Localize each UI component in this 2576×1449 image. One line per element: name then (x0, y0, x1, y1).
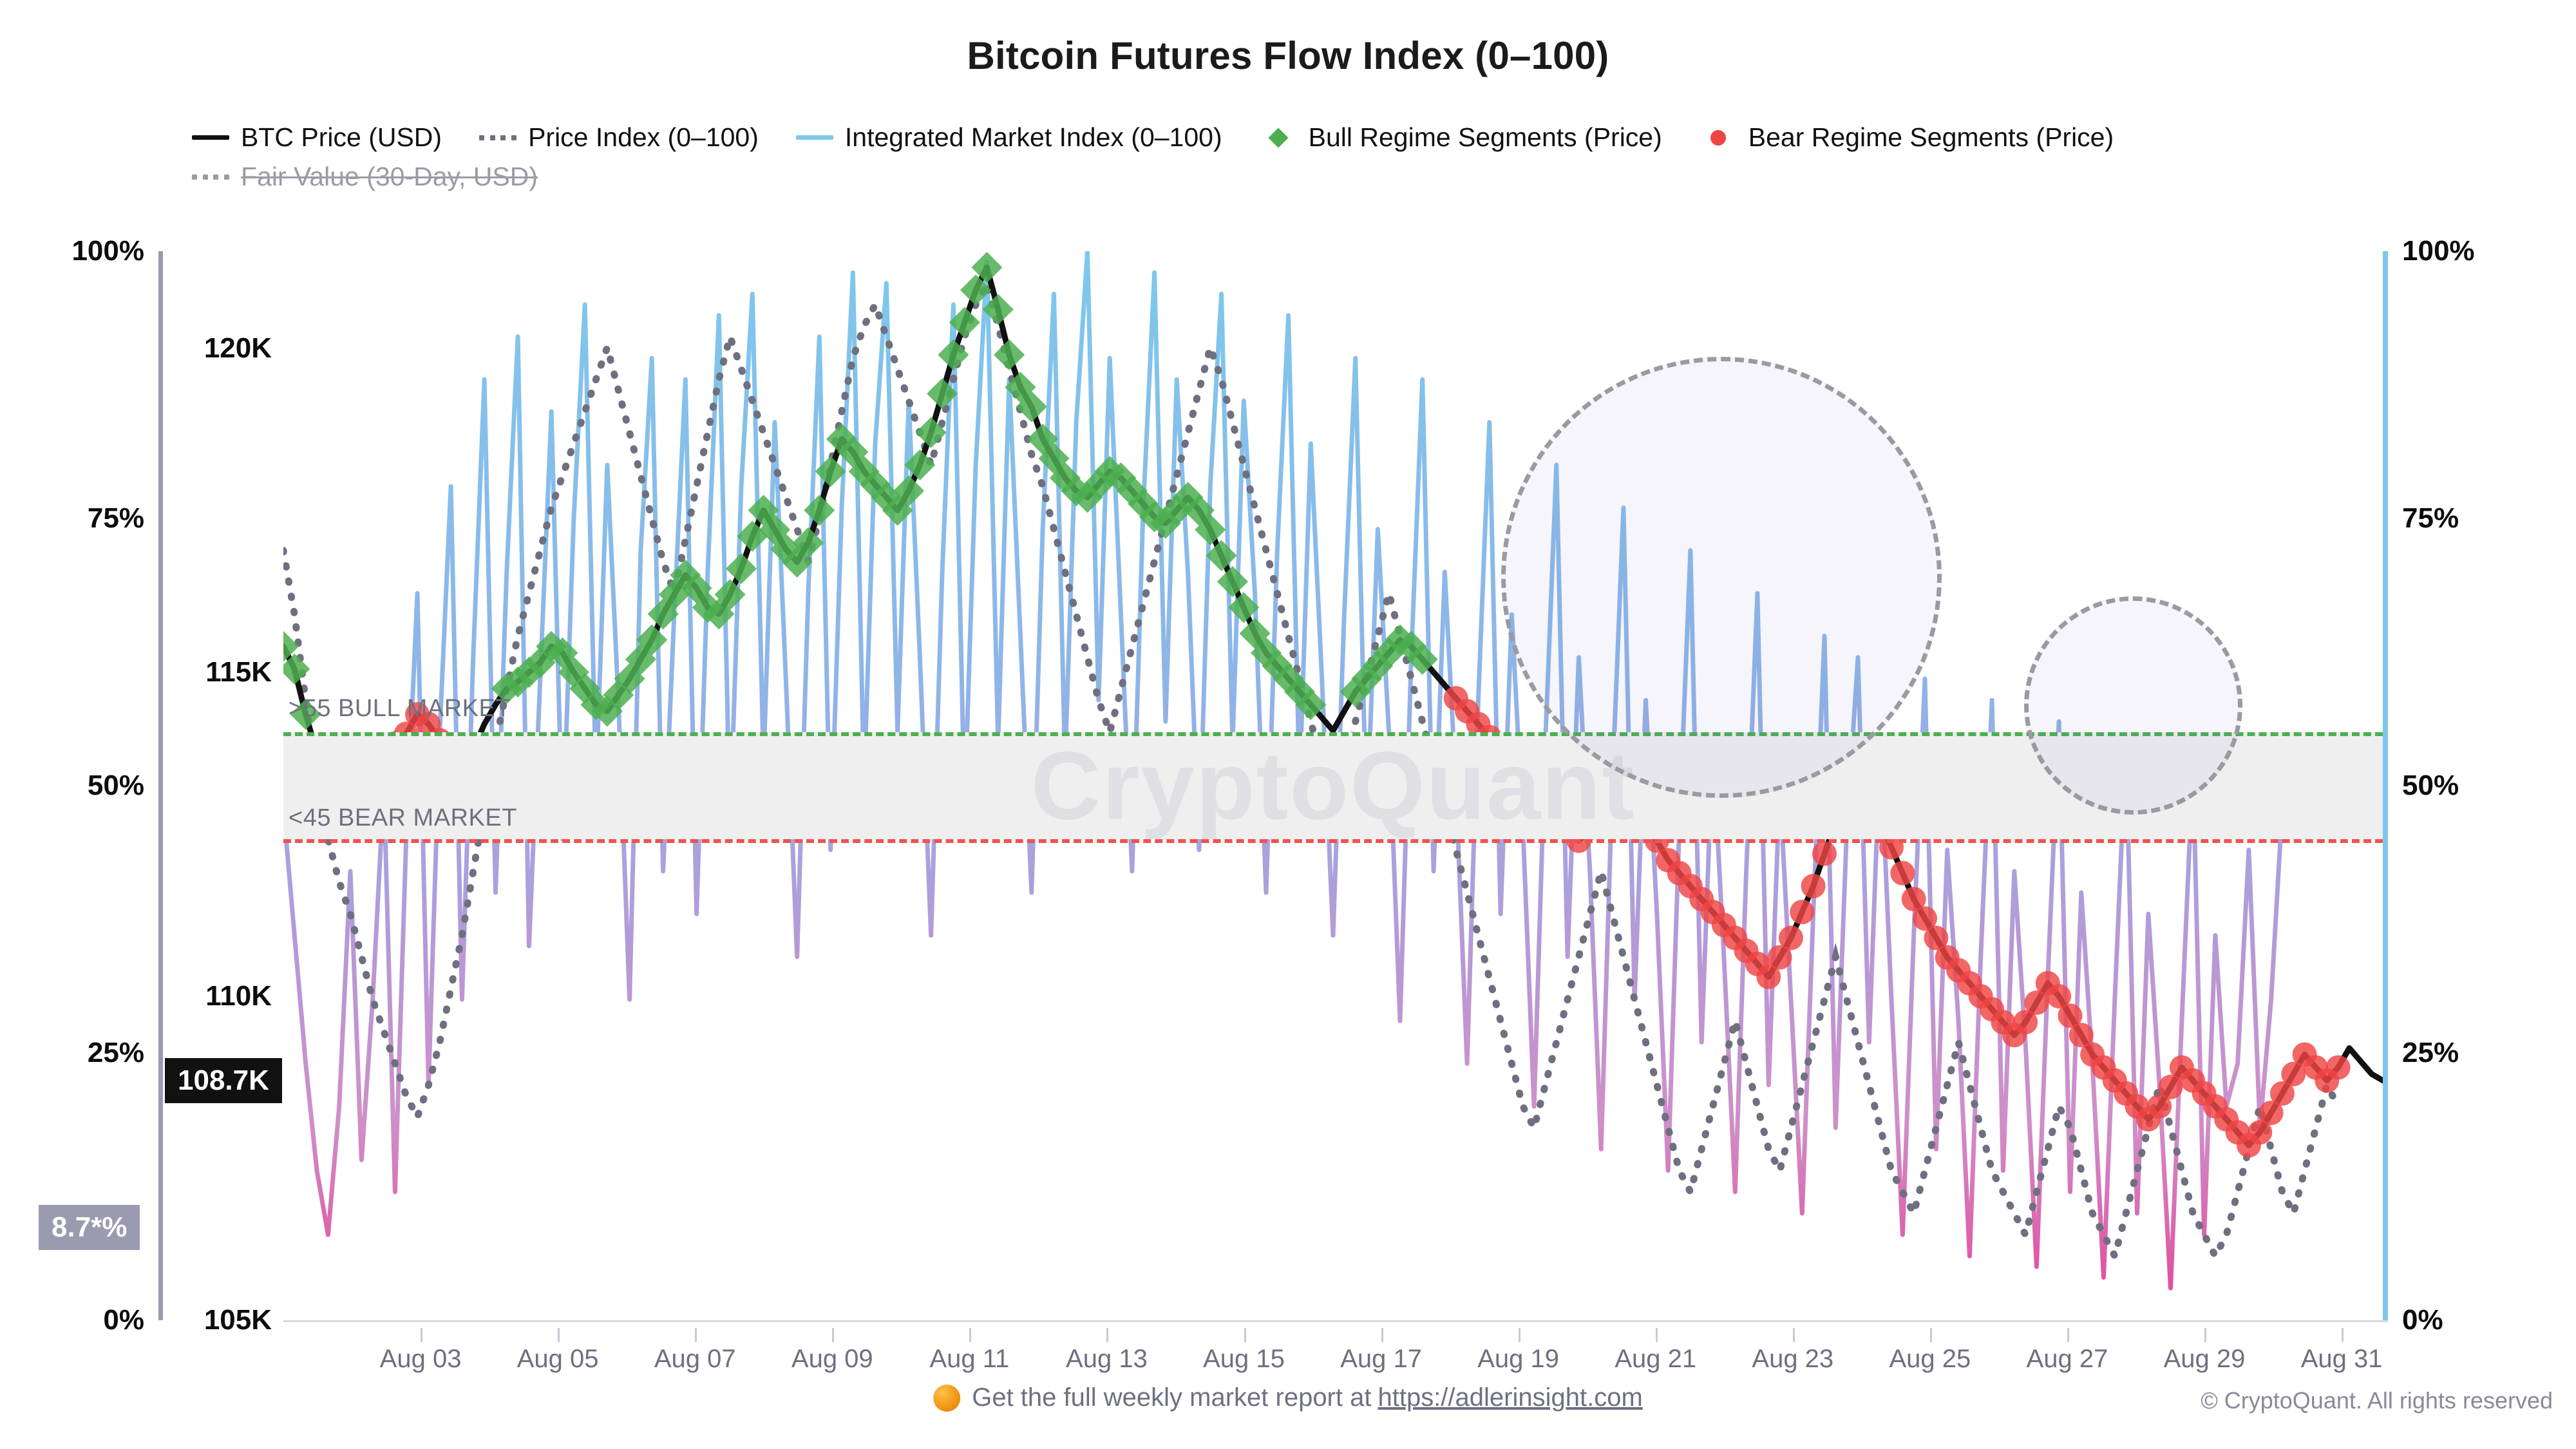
x-tick-mark (2204, 1328, 2206, 1342)
legend-row-secondary[interactable]: Fair Value (30-Day, USD) (191, 162, 2432, 192)
legend-row-primary[interactable]: BTC Price (USD)Price Index (0–100)Integr… (191, 122, 2432, 153)
left-price-tick: 110K (205, 980, 272, 1012)
footer: Get the full weekly market report at htt… (0, 1383, 2576, 1428)
current-price-badge: 108.7K (165, 1058, 282, 1103)
x-tick-label: Aug 19 (1477, 1345, 1559, 1374)
x-tick-mark (1381, 1328, 1383, 1342)
x-tick-label: Aug 17 (1340, 1345, 1422, 1374)
x-tick-mark (1930, 1328, 1932, 1342)
legend-item-label: BTC Price (USD) (241, 122, 442, 153)
bull-regime-marker (938, 339, 969, 370)
bear-regime-marker (1790, 900, 1814, 924)
left-price-axis: 105K110K115K120K (161, 251, 283, 1320)
x-tick-label: Aug 21 (1615, 1345, 1696, 1374)
legend-swatch-dotted (478, 129, 518, 146)
x-tick-label: Aug 25 (1889, 1345, 1971, 1374)
legend-item[interactable]: Bull Regime Segments (Price) (1258, 122, 1662, 153)
x-tick-label: Aug 13 (1066, 1345, 1148, 1374)
x-tick-mark (1793, 1328, 1795, 1342)
left-percent-tick: 100% (71, 235, 144, 267)
x-tick-label: Aug 09 (791, 1345, 873, 1374)
x-tick-mark (421, 1328, 422, 1342)
x-tick-mark (2067, 1328, 2069, 1342)
legend-swatch-line (191, 129, 231, 146)
bear-regime-marker (1779, 925, 1803, 950)
x-tick-mark (1656, 1328, 1658, 1342)
copyright-text: © CryptoQuant. All rights reserved (2201, 1387, 2553, 1414)
right-percent-tick: 25% (2402, 1037, 2459, 1069)
chart-legend[interactable]: BTC Price (USD)Price Index (0–100)Integr… (191, 122, 2432, 192)
legend-item[interactable]: Fair Value (30-Day, USD) (191, 162, 538, 192)
x-tick-mark (1244, 1328, 1246, 1342)
left-price-tick: 120K (204, 332, 272, 365)
x-tick-mark (1106, 1328, 1108, 1342)
bull-threshold-label: >55 BULL MARKET (289, 695, 511, 723)
x-tick-label: Aug 11 (929, 1345, 1009, 1374)
x-tick-label: Aug 23 (1752, 1345, 1833, 1374)
x-tick-mark (1519, 1328, 1520, 1342)
right-percent-tick: 100% (2402, 235, 2475, 267)
right-percent-tick: 50% (2402, 770, 2459, 802)
chart-page: Bitcoin Futures Flow Index (0–100) BTC P… (0, 0, 2576, 1449)
bear-threshold-line (283, 839, 2383, 843)
bear-regime-marker (1812, 842, 1837, 866)
legend-swatch-line (795, 129, 835, 146)
legend-item-label: Bull Regime Segments (Price) (1309, 122, 1662, 153)
x-tick-mark (832, 1328, 834, 1342)
bitcoin-coin-icon (933, 1385, 960, 1412)
x-axis-ticks: Aug 03Aug 05Aug 07Aug 09Aug 11Aug 13Aug … (283, 1328, 2388, 1379)
bull-regime-marker (994, 339, 1025, 370)
left-percent-axis: 0%25%50%75%100% (0, 251, 161, 1320)
bear-regime-marker (1801, 874, 1826, 898)
x-tick-label: Aug 07 (654, 1345, 736, 1374)
right-percent-tick: 0% (2402, 1304, 2443, 1336)
page-title: Bitcoin Futures Flow Index (0–100) (0, 33, 2576, 78)
x-tick-label: Aug 15 (1203, 1345, 1285, 1374)
footer-cta-text: Get the full weekly market report at (972, 1383, 1371, 1412)
left-percent-tick: 0% (103, 1304, 144, 1336)
x-tick-mark (558, 1328, 560, 1342)
x-tick-mark (695, 1328, 697, 1342)
legend-item[interactable]: Integrated Market Index (0–100) (795, 122, 1222, 153)
x-axis-spine (283, 1320, 2388, 1322)
x-tick-label: Aug 31 (2301, 1345, 2383, 1374)
x-tick-label: Aug 03 (380, 1345, 462, 1374)
bear-regime-marker (2326, 1056, 2351, 1080)
legend-item[interactable]: BTC Price (USD) (191, 122, 442, 153)
highlight-circle (1501, 357, 1942, 798)
legend-item-label: Bear Regime Segments (Price) (1748, 122, 2114, 153)
legend-item-label: Fair Value (30-Day, USD) (241, 162, 538, 192)
right-percent-tick: 75% (2402, 502, 2459, 535)
right-percent-axis: 0%25%50%75%100% (2383, 251, 2570, 1320)
legend-item[interactable]: Price Index (0–100) (478, 122, 759, 153)
footer-cta-link[interactable]: https://adlerinsight.com (1378, 1383, 1642, 1412)
left-price-tick: 115K (205, 656, 272, 688)
left-percent-tick: 50% (88, 770, 144, 802)
x-tick-mark (969, 1328, 971, 1342)
legend-swatch-diamond (1258, 129, 1298, 146)
legend-item-label: Price Index (0–100) (528, 122, 759, 153)
current-index-badge: 8.7*% (39, 1205, 140, 1250)
x-tick-mark (2342, 1328, 2344, 1342)
bull-regime-marker (804, 495, 835, 526)
left-percent-tick: 75% (88, 502, 144, 535)
x-tick-label: Aug 05 (517, 1345, 599, 1374)
legend-swatch-dot (1698, 129, 1738, 146)
legend-item[interactable]: Bear Regime Segments (Price) (1698, 122, 2114, 153)
x-tick-label: Aug 27 (2027, 1345, 2108, 1374)
x-tick-label: Aug 29 (2164, 1345, 2246, 1374)
bear-threshold-label: <45 BEAR MARKET (289, 804, 517, 832)
bear-regime-marker (1890, 861, 1915, 885)
legend-item-label: Integrated Market Index (0–100) (845, 122, 1222, 153)
legend-swatch-dotted (191, 169, 231, 185)
highlight-circle (2024, 596, 2242, 815)
plot-area[interactable]: CryptoQuant >55 BULL MARKET <45 BEAR MAR… (283, 251, 2383, 1320)
left-percent-tick: 25% (88, 1037, 144, 1069)
footer-cta[interactable]: Get the full weekly market report at htt… (933, 1383, 1643, 1412)
left-price-tick: 105K (204, 1304, 272, 1336)
